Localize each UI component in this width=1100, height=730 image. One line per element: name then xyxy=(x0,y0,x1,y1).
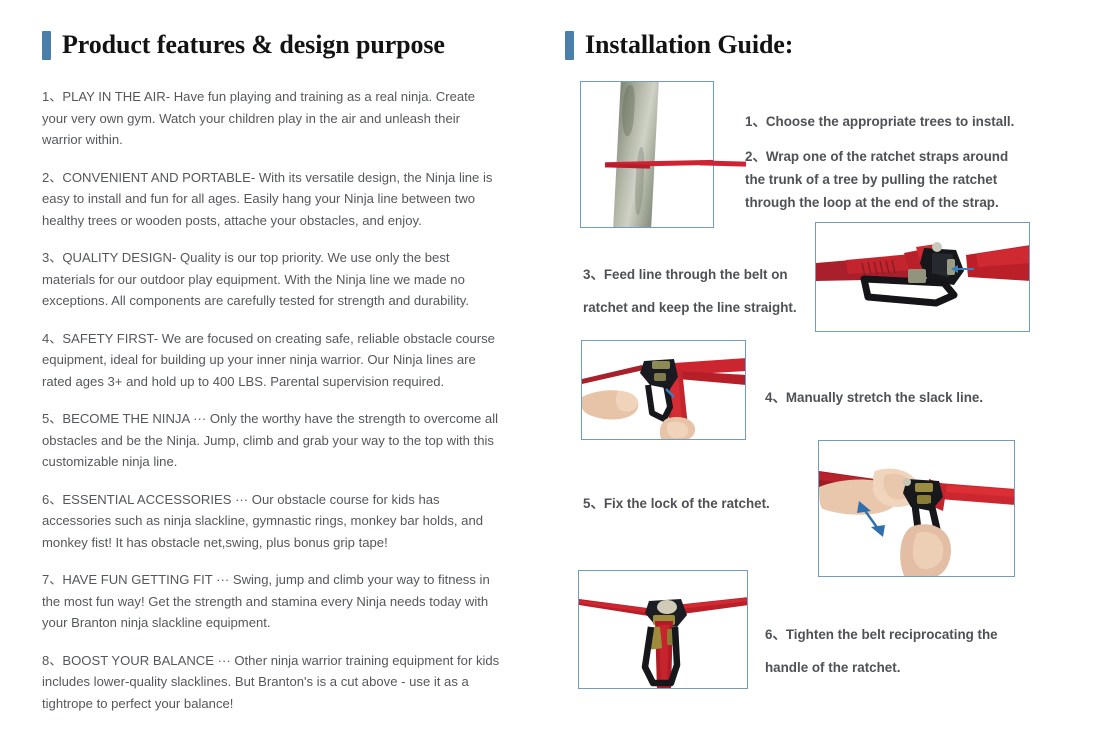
list-item: 7、HAVE FUN GETTING FIT ··· Swing, jump a… xyxy=(42,569,502,634)
photo-ratchet-closeup xyxy=(815,222,1030,332)
product-features-column: Product features & design purpose 1、PLAY… xyxy=(42,30,502,714)
page-title: Product features & design purpose xyxy=(62,30,445,60)
step-2-text: 2、Wrap one of the ratchet straps around … xyxy=(745,145,1030,214)
step-6-text: 6、Tighten the belt reciprocating the han… xyxy=(765,618,1020,684)
accent-bar-icon xyxy=(42,31,51,60)
list-item: 8、BOOST YOUR BALANCE ··· Other ninja war… xyxy=(42,650,502,715)
installation-guide-column: Installation Guide: xyxy=(565,30,1065,60)
features-list: 1、PLAY IN THE AIR- Have fun playing and … xyxy=(42,86,502,714)
step-5-text: 5、Fix the lock of the ratchet. xyxy=(583,492,823,515)
photo-tightened-line-ratchet xyxy=(578,570,748,689)
product-info-page: Product features & design purpose 1、PLAY… xyxy=(0,0,1100,730)
tree-trunk-graphic xyxy=(613,81,659,228)
list-item: 2、CONVENIENT AND PORTABLE- With its vers… xyxy=(42,167,502,232)
ratchet-closeup-graphic xyxy=(816,223,1030,332)
list-item: 6、ESSENTIAL ACCESSORIES ··· Our obstacle… xyxy=(42,489,502,554)
list-item: 4、SAFETY FIRST- We are focused on creati… xyxy=(42,328,502,393)
photo-hand-locking-ratchet xyxy=(818,440,1015,577)
photo-hands-pulling-strap xyxy=(581,340,746,440)
hands-pulling-strap-graphic xyxy=(582,341,746,440)
accent-bar-icon xyxy=(565,31,574,60)
product-features-heading: Product features & design purpose xyxy=(42,30,502,60)
step-1-text: 1、Choose the appropriate trees to instal… xyxy=(745,110,1035,133)
tightened-line-ratchet-graphic xyxy=(579,571,748,689)
list-item: 5、BECOME THE NINJA ··· Only the worthy h… xyxy=(42,408,502,473)
hand-locking-ratchet-graphic xyxy=(819,441,1015,577)
photo-tree-with-strap xyxy=(580,81,714,228)
step-3-text: 3、Feed line through the belt on ratchet … xyxy=(583,258,808,324)
section-title: Installation Guide: xyxy=(585,30,793,60)
list-item: 3、QUALITY DESIGN- Quality is our top pri… xyxy=(42,247,502,312)
installation-guide-heading: Installation Guide: xyxy=(565,30,1065,60)
list-item: 1、PLAY IN THE AIR- Have fun playing and … xyxy=(42,86,502,151)
step-4-text: 4、Manually stretch the slack line. xyxy=(765,386,1045,409)
red-strap-loop-graphic xyxy=(605,163,650,168)
